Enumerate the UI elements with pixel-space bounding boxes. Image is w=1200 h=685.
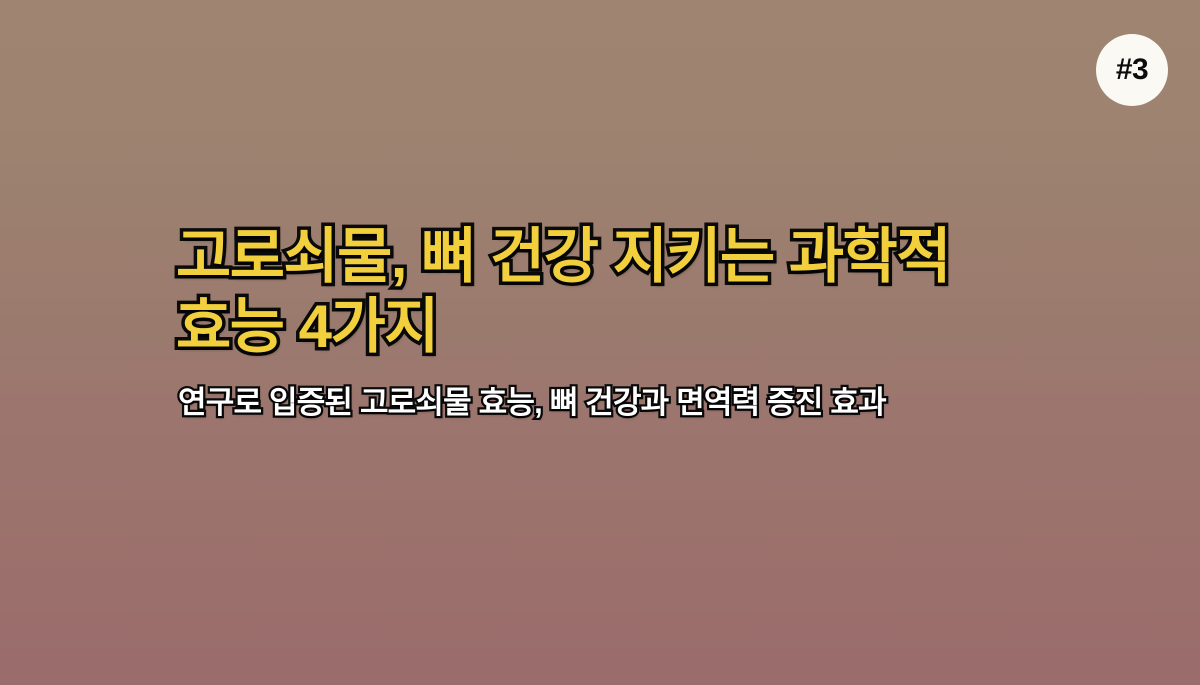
slide-text-block: 고로쇠물, 뼈 건강 지키는 과학적 효능 4가지 연구로 입증된 고로쇠물 효…	[176, 222, 1136, 423]
slide-number-label: #3	[1116, 55, 1148, 85]
slide-number-badge: #3	[1096, 34, 1168, 106]
slide-title: 고로쇠물, 뼈 건강 지키는 과학적 효능 4가지	[176, 222, 1136, 362]
slide-subtitle: 연구로 입증된 고로쇠물 효능, 뼈 건강과 면역력 증진 효과	[178, 384, 1136, 423]
slide-canvas: #3 고로쇠물, 뼈 건강 지키는 과학적 효능 4가지 연구로 입증된 고로쇠…	[0, 0, 1200, 685]
